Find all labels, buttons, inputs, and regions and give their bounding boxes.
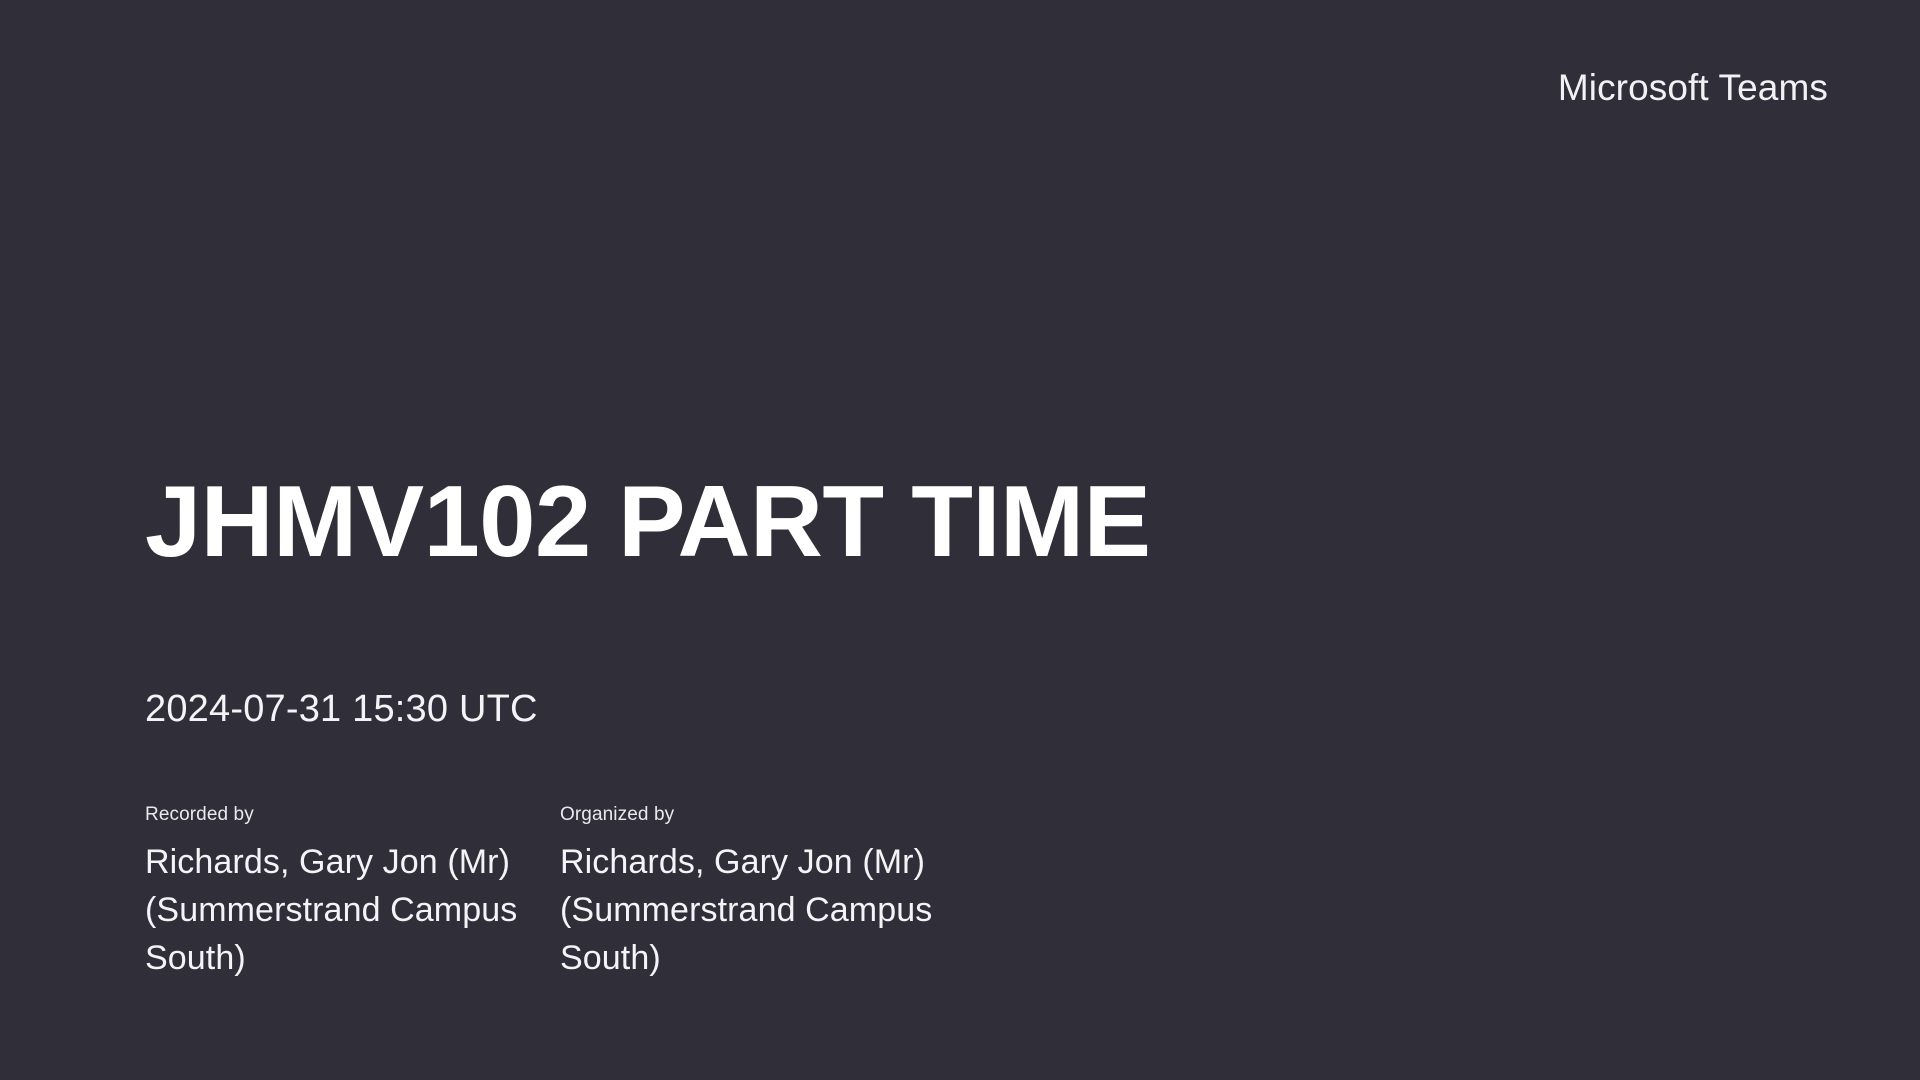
slide-content: JHMV102 PART TIME 2024-07-31 15:30 UTC R… xyxy=(145,470,1745,982)
credit-label: Recorded by xyxy=(145,803,560,827)
credit-organized-by: Organized by Richards, Gary Jon (Mr) (Su… xyxy=(560,803,975,982)
recording-title-slide: Microsoft Teams JHMV102 PART TIME 2024-0… xyxy=(0,0,1920,1080)
meeting-datetime: 2024-07-31 15:30 UTC xyxy=(145,687,1745,731)
credit-name: Richards, Gary Jon (Mr) (Summerstrand Ca… xyxy=(560,838,945,982)
meeting-title: JHMV102 PART TIME xyxy=(145,470,1745,574)
credit-recorded-by: Recorded by Richards, Gary Jon (Mr) (Sum… xyxy=(145,803,560,982)
credit-name: Richards, Gary Jon (Mr) (Summerstrand Ca… xyxy=(145,838,530,982)
credits-row: Recorded by Richards, Gary Jon (Mr) (Sum… xyxy=(145,803,1745,982)
credit-label: Organized by xyxy=(560,803,975,827)
microsoft-teams-brand-label: Microsoft Teams xyxy=(1558,66,1828,110)
